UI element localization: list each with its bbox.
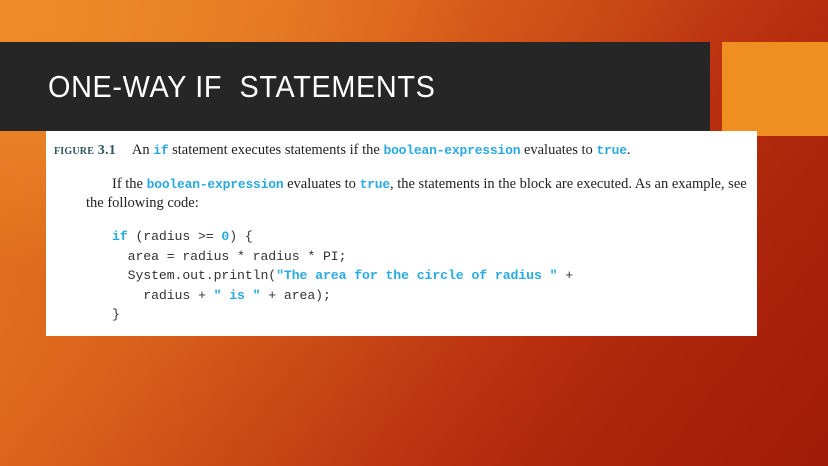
- code-line1-a: (radius >=: [128, 229, 222, 244]
- paragraph-code-true: true: [360, 177, 390, 192]
- code-keyword-if: if: [112, 229, 128, 244]
- code-line3-a: System.out.println(: [112, 268, 276, 283]
- code-line4-b: + area);: [260, 288, 330, 303]
- figure-label: Figure 3.1: [54, 143, 116, 158]
- code-string-area-for-circle: "The area for the circle of radius ": [276, 268, 557, 283]
- figure-paragraph: If the boolean-expression evaluates to t…: [86, 175, 747, 213]
- figure-caption-seg1: An: [132, 142, 153, 158]
- code-sample: if (radius >= 0) { area = radius * radiu…: [112, 227, 573, 325]
- figure-caption-code-true: true: [596, 143, 626, 158]
- page-title: ONE-WAY IF STATEMENTS: [48, 69, 436, 105]
- figure-panel: Figure 3.1An if statement executes state…: [46, 131, 757, 336]
- accent-block: [722, 42, 828, 136]
- figure-caption-seg4: .: [627, 142, 631, 158]
- paragraph-seg1: If the: [112, 176, 147, 192]
- figure-caption-code-if: if: [153, 143, 168, 158]
- paragraph-code-boolean-expression: boolean-expression: [147, 177, 284, 192]
- code-line3-b: +: [557, 268, 573, 283]
- figure-caption-code-boolean-expression: boolean-expression: [383, 143, 520, 158]
- code-line2: area = radius * radius * PI;: [112, 249, 346, 264]
- slide-canvas: ONE-WAY IF STATEMENTS Figure 3.1An if st…: [0, 0, 828, 466]
- code-line4-a: radius +: [112, 288, 214, 303]
- paragraph-seg2: evaluates to: [283, 176, 359, 192]
- figure-caption-seg3: evaluates to: [520, 142, 596, 158]
- code-line1-b: ) {: [229, 229, 252, 244]
- figure-caption-seg2: statement executes statements if the: [168, 142, 383, 158]
- figure-caption: Figure 3.1An if statement executes state…: [54, 141, 751, 159]
- title-bar: ONE-WAY IF STATEMENTS: [0, 42, 710, 131]
- code-string-is: " is ": [214, 288, 261, 303]
- code-line5-closing-brace: }: [112, 307, 120, 322]
